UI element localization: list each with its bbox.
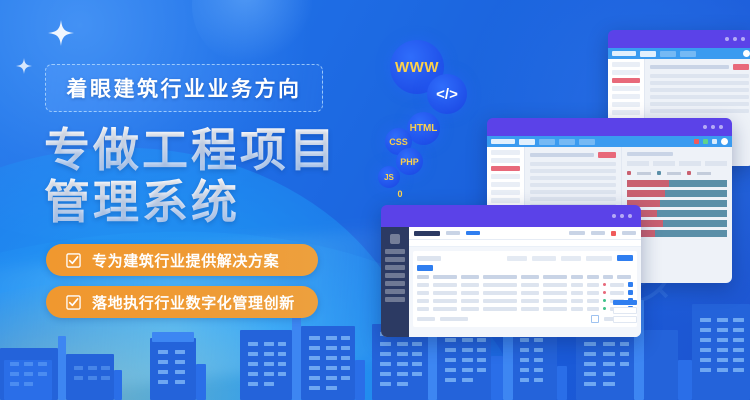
dropdown-item-active[interactable] bbox=[613, 300, 637, 305]
feature-item[interactable]: 落地执行行业数字化管理创新 bbox=[46, 286, 318, 318]
sidebar-item[interactable] bbox=[612, 94, 640, 99]
headline-line-1: 专做工程项目 bbox=[44, 124, 338, 176]
dropdown-item[interactable] bbox=[613, 316, 637, 323]
sidebar-item[interactable] bbox=[385, 257, 405, 262]
tech-bubble-label: </> bbox=[436, 86, 458, 103]
primary-action-button[interactable] bbox=[598, 152, 616, 158]
headline-line-2: 管理系统 bbox=[44, 176, 338, 228]
menu-item[interactable] bbox=[591, 231, 605, 235]
feature-list: 专为建筑行业提供解决方案 落地执行行业数字化管理创新 bbox=[46, 244, 318, 328]
table-row[interactable] bbox=[530, 169, 616, 173]
tech-bubble-label: PHP bbox=[400, 157, 419, 167]
status-badge bbox=[603, 307, 606, 310]
menu-item[interactable] bbox=[569, 231, 585, 235]
app-tab[interactable] bbox=[559, 139, 575, 145]
sparkle-icon bbox=[48, 20, 74, 46]
status-badge bbox=[603, 291, 606, 294]
filter-select[interactable] bbox=[507, 256, 527, 261]
table-row[interactable] bbox=[530, 176, 616, 180]
sidebar-item[interactable] bbox=[491, 150, 520, 155]
sidebar-item[interactable] bbox=[612, 70, 640, 75]
browser-chrome-bar bbox=[487, 118, 732, 136]
browser-mockup-front[interactable] bbox=[381, 205, 641, 337]
sidebar-item[interactable] bbox=[385, 273, 405, 278]
app-tab[interactable] bbox=[680, 51, 696, 57]
sidebar-item[interactable] bbox=[385, 281, 405, 286]
tagline-text: 着眼建筑行业业务方向 bbox=[67, 73, 302, 103]
sidebar-item[interactable] bbox=[491, 198, 520, 203]
stacked-bar-chart bbox=[627, 180, 727, 237]
browser-chrome-bar bbox=[608, 30, 750, 48]
row-action-icon[interactable] bbox=[628, 282, 633, 287]
app-logo bbox=[491, 139, 515, 144]
table-row[interactable] bbox=[650, 109, 749, 113]
status-badge bbox=[603, 299, 606, 302]
sidebar-item-active[interactable] bbox=[491, 166, 520, 171]
app-window bbox=[381, 227, 641, 337]
app-logo bbox=[612, 51, 636, 56]
feature-label: 专为建筑行业提供解决方案 bbox=[92, 250, 279, 271]
tech-bubble-label: HTML bbox=[410, 123, 438, 134]
table-header bbox=[417, 275, 633, 279]
table-row[interactable] bbox=[650, 88, 749, 92]
sidebar-item[interactable] bbox=[385, 249, 405, 254]
tech-bubble-label: 0 bbox=[397, 189, 402, 199]
app-top-bar bbox=[487, 136, 732, 147]
sidebar-item[interactable] bbox=[612, 62, 640, 67]
search-button[interactable] bbox=[617, 255, 633, 261]
app-tab[interactable] bbox=[660, 51, 676, 57]
tech-bubble-label: WWW bbox=[395, 59, 439, 76]
app-top-bar bbox=[608, 48, 750, 59]
table-row[interactable] bbox=[650, 95, 749, 99]
window-controls[interactable] bbox=[612, 214, 632, 218]
table-row[interactable] bbox=[530, 197, 616, 201]
tech-bubble-zero: 0 bbox=[392, 186, 408, 202]
dropdown-menu[interactable] bbox=[613, 300, 637, 323]
tech-bubble-php: PHP bbox=[396, 148, 423, 175]
search-input[interactable] bbox=[586, 256, 612, 261]
table-row[interactable] bbox=[530, 183, 616, 187]
sidebar-item[interactable] bbox=[612, 86, 640, 91]
settings-icon[interactable] bbox=[712, 139, 717, 144]
tech-bubble-label: JS bbox=[384, 173, 394, 182]
browser-chrome-bar bbox=[381, 205, 641, 227]
user-menu[interactable] bbox=[622, 231, 636, 235]
sidebar-item[interactable] bbox=[491, 158, 520, 163]
tech-bubble-js: JS bbox=[378, 166, 400, 188]
breadcrumb bbox=[409, 240, 641, 247]
tagline-box: 着眼建筑行业业务方向 bbox=[45, 64, 323, 112]
feature-label: 落地执行行业数字化管理创新 bbox=[92, 292, 295, 313]
sidebar-item[interactable] bbox=[385, 297, 405, 302]
sidebar-item[interactable] bbox=[385, 289, 405, 294]
window-controls[interactable] bbox=[725, 37, 745, 41]
row-action-icon[interactable] bbox=[628, 290, 633, 295]
pagination[interactable] bbox=[417, 315, 633, 323]
status-icon[interactable] bbox=[703, 139, 708, 144]
sidebar-item[interactable] bbox=[385, 265, 405, 270]
sparkle-icon-small bbox=[16, 58, 32, 74]
table-row[interactable] bbox=[650, 102, 749, 106]
app-header bbox=[409, 227, 641, 240]
app-tab[interactable] bbox=[519, 139, 535, 145]
chart-legend bbox=[627, 171, 727, 175]
filter-bar bbox=[413, 251, 637, 327]
window-controls[interactable] bbox=[703, 125, 723, 129]
sidebar-item[interactable] bbox=[491, 182, 520, 187]
status-badge bbox=[603, 283, 606, 286]
sidebar-item[interactable] bbox=[612, 110, 640, 115]
table-row[interactable] bbox=[650, 74, 749, 78]
notification-icon[interactable] bbox=[611, 231, 616, 236]
menu-item[interactable] bbox=[446, 231, 460, 235]
filter-select[interactable] bbox=[561, 256, 581, 261]
sidebar-item-active[interactable] bbox=[612, 78, 640, 83]
filter-select[interactable] bbox=[532, 256, 556, 261]
tech-bubble-label: CSS bbox=[389, 137, 408, 147]
feature-item[interactable]: 专为建筑行业提供解决方案 bbox=[46, 244, 318, 276]
table-row[interactable] bbox=[530, 162, 616, 166]
primary-action-button[interactable] bbox=[733, 64, 749, 70]
table-row[interactable] bbox=[417, 282, 633, 287]
app-tab[interactable] bbox=[539, 139, 555, 145]
filter-label bbox=[417, 256, 441, 261]
menu-item-active[interactable] bbox=[466, 231, 480, 235]
app-content bbox=[409, 227, 641, 337]
avatar[interactable] bbox=[743, 50, 750, 57]
sidebar-item[interactable] bbox=[491, 190, 520, 195]
app-title bbox=[414, 231, 440, 236]
dropdown-item[interactable] bbox=[613, 307, 637, 314]
checkbox-checked-icon bbox=[66, 295, 81, 310]
tech-bubble-code: </> bbox=[427, 74, 467, 114]
checkbox-checked-icon bbox=[66, 253, 81, 268]
table-row[interactable] bbox=[530, 190, 616, 194]
avatar[interactable] bbox=[721, 138, 728, 145]
sidebar-item[interactable] bbox=[612, 102, 640, 107]
notification-icon[interactable] bbox=[694, 139, 699, 144]
promo-banner: WWW </> HTML CSS PHP JS 0 着眼建筑行业业务方向 专做工… bbox=[0, 0, 750, 400]
table-row[interactable] bbox=[417, 298, 633, 303]
circle-top-decoration bbox=[192, 0, 312, 66]
app-tab[interactable] bbox=[640, 51, 656, 57]
page-number[interactable] bbox=[591, 315, 599, 323]
app-sidebar-dark[interactable] bbox=[381, 227, 409, 337]
add-button[interactable] bbox=[417, 265, 433, 271]
page-title: 专做工程项目 管理系统 bbox=[44, 124, 338, 228]
app-tab[interactable] bbox=[579, 139, 595, 145]
table-row[interactable] bbox=[417, 306, 633, 311]
table-row[interactable] bbox=[417, 290, 633, 295]
table-row[interactable] bbox=[650, 81, 749, 85]
sidebar-item[interactable] bbox=[491, 174, 520, 179]
app-logo bbox=[390, 234, 400, 244]
